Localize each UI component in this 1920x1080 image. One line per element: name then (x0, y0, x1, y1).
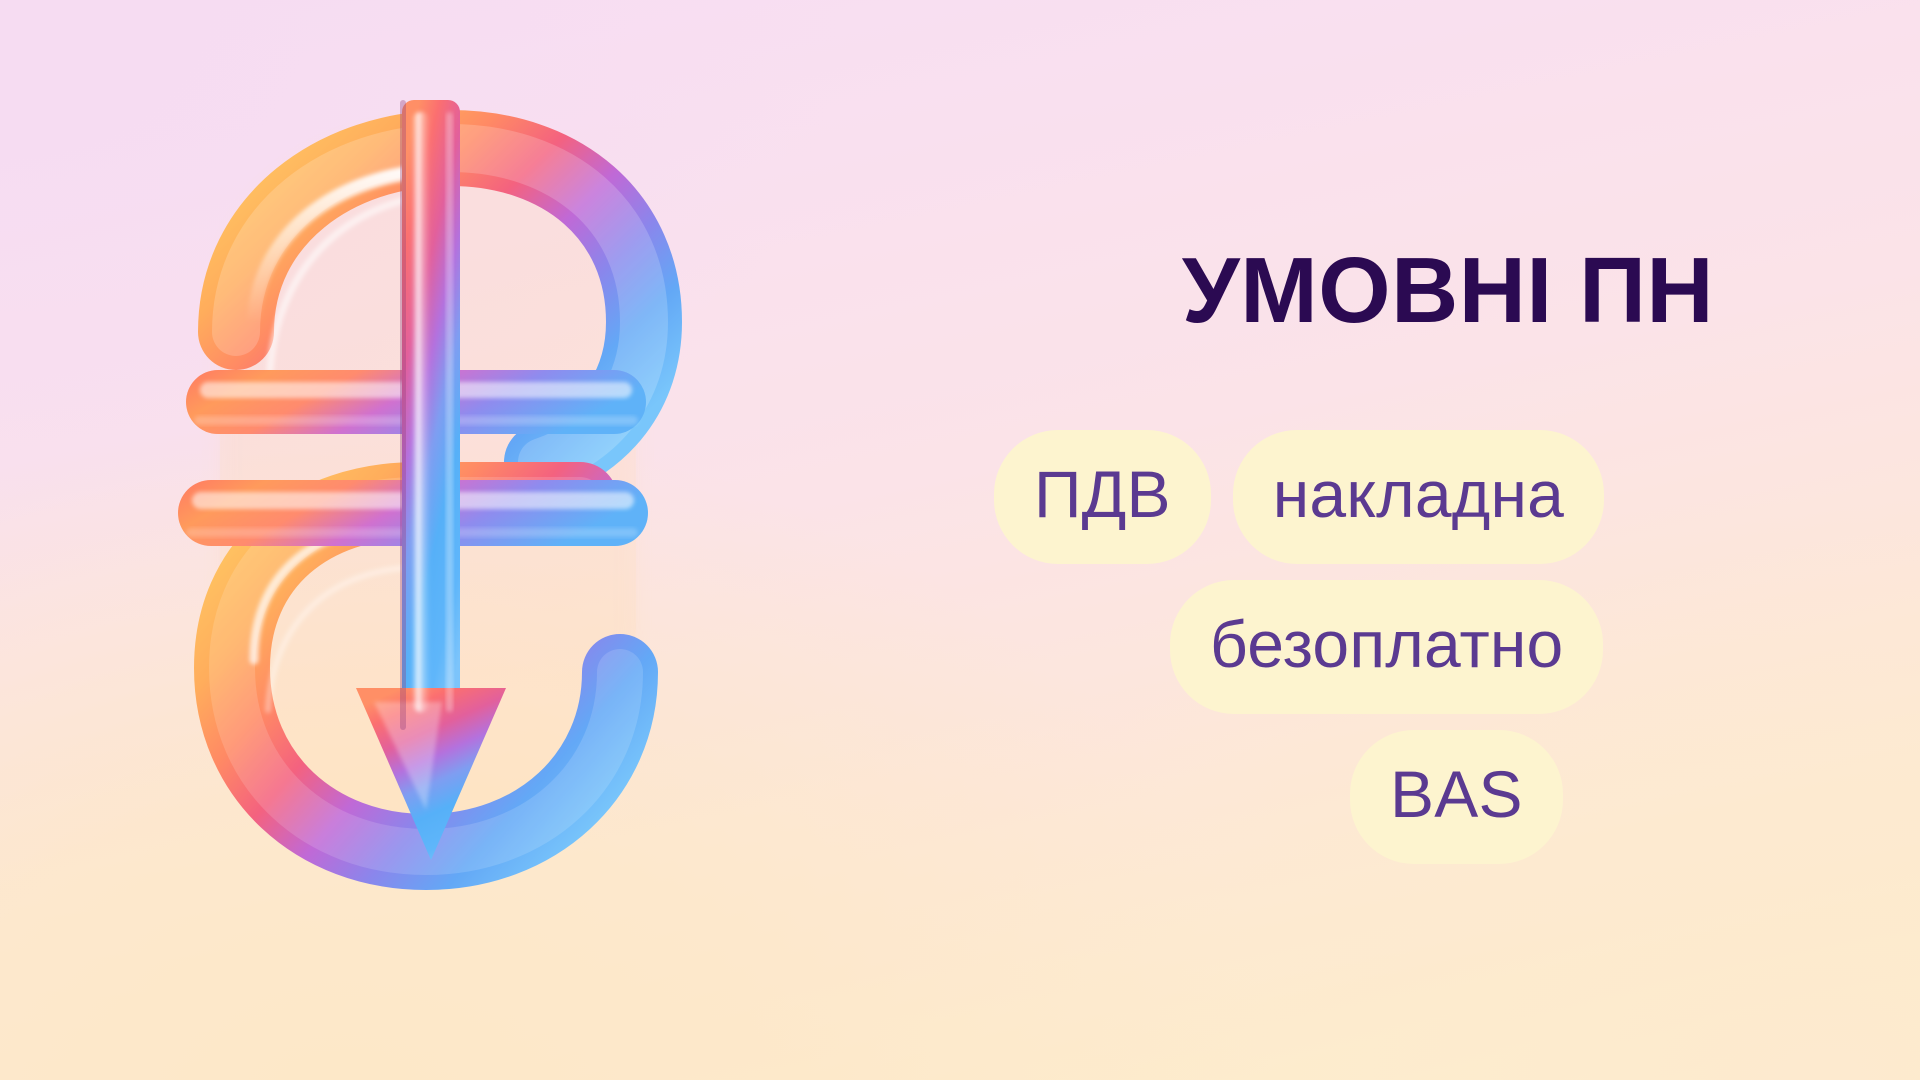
tag-chip-row-1: ПДВ накладна (980, 430, 1880, 564)
tag-chip-group: ПДВ накладна безоплатно BAS (980, 430, 1880, 880)
tag-chip-pdv[interactable]: ПДВ (994, 430, 1211, 564)
hryvnia-currency-symbol-with-down-arrow-icon (150, 70, 710, 950)
banner-content: УМОВНІ ПН ПДВ накладна безоплатно BAS (980, 0, 1880, 1080)
tag-chip-nakladna[interactable]: накладна (1233, 430, 1604, 564)
tag-chip-row-2: безоплатно (980, 580, 1880, 714)
tag-chip-row-3: BAS (980, 730, 1880, 864)
tag-chip-bezoplatno[interactable]: безоплатно (1170, 580, 1603, 714)
page-title: УМОВНІ ПН (1028, 244, 1868, 337)
tag-chip-bas[interactable]: BAS (1350, 730, 1563, 864)
promo-banner: УМОВНІ ПН ПДВ накладна безоплатно BAS (0, 0, 1920, 1080)
